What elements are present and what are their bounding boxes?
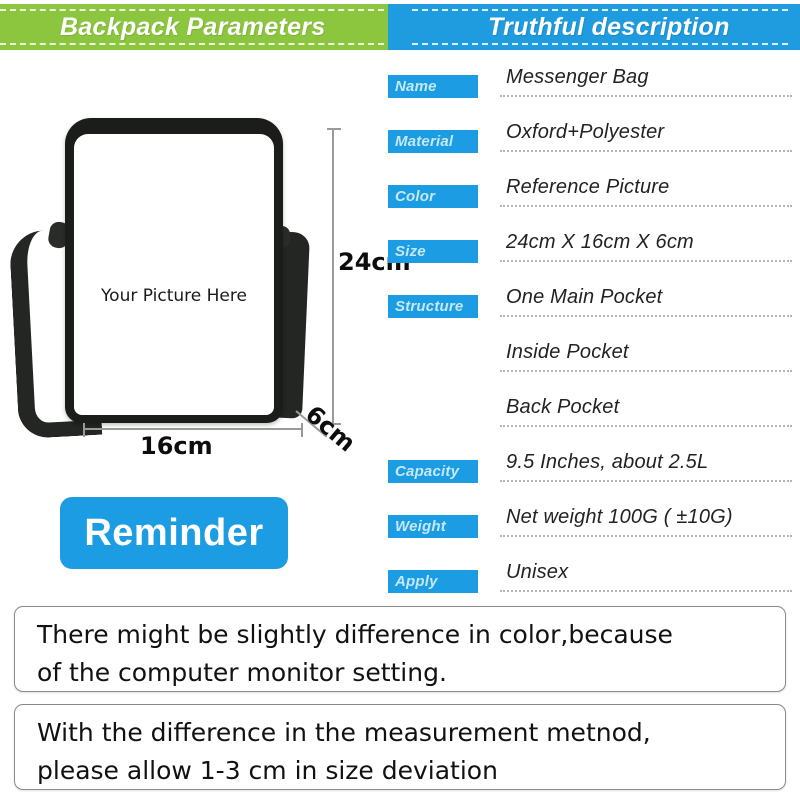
spec-row: NameMessenger Bag	[388, 62, 792, 117]
header-banner: Backpack Parameters Truthful description	[0, 4, 800, 50]
notice-2-line-2: please allow 1-3 cm in size deviation	[37, 752, 767, 790]
dimension-line-height	[332, 128, 334, 425]
dimension-label-width: 16cm	[140, 432, 213, 460]
spec-value-text: Messenger Bag	[506, 66, 649, 89]
header-title-right: Truthful description	[488, 4, 730, 50]
spec-value-text: Inside Pocket	[506, 341, 629, 364]
notice-color-disclaimer: There might be slightly difference in co…	[14, 606, 786, 692]
spec-value-text: Unisex	[506, 561, 568, 584]
spec-value-cell: Oxford+Polyester	[500, 117, 792, 172]
spec-value-cell: 24cm X 16cm X 6cm	[500, 227, 792, 282]
dimension-line-width	[83, 428, 303, 430]
spec-value-text: 9.5 Inches, about 2.5L	[506, 451, 708, 474]
spec-dotted-leader	[500, 260, 792, 262]
spec-value-text: One Main Pocket	[506, 286, 662, 309]
spec-row: ColorReference Picture	[388, 172, 792, 227]
header-title-left: Backpack Parameters	[60, 4, 326, 50]
spec-value-cell: Inside Pocket	[500, 337, 792, 392]
spec-label-chip: Material	[388, 130, 478, 153]
spec-label-chip: Apply	[388, 570, 478, 593]
spec-value-text: Back Pocket	[506, 396, 619, 419]
spec-value-cell: Messenger Bag	[500, 62, 792, 117]
bag-body: Your Picture Here	[65, 118, 283, 423]
spec-value-text: Net weight 100G ( ±10G)	[506, 506, 733, 529]
bag-print-panel: Your Picture Here	[74, 134, 274, 415]
spec-dotted-leader	[500, 205, 792, 207]
notice-2-line-1: With the difference in the measurement m…	[37, 714, 767, 752]
spec-dotted-leader	[500, 315, 792, 317]
spec-row: StructureOne Main Pocket	[388, 282, 792, 337]
spec-value-text: Oxford+Polyester	[506, 121, 664, 144]
spec-value-cell: Reference Picture	[500, 172, 792, 227]
spec-label-chip: Name	[388, 75, 478, 98]
dimension-label-depth: 6cm	[300, 400, 361, 457]
spec-dotted-leader	[500, 535, 792, 537]
spec-value-cell: 9.5 Inches, about 2.5L	[500, 447, 792, 502]
bag-panel-caption: Your Picture Here	[74, 286, 274, 306]
spec-value-cell: One Main Pocket	[500, 282, 792, 337]
spec-label-chip: Color	[388, 185, 478, 208]
specification-table: NameMessenger BagMaterialOxford+Polyeste…	[388, 62, 792, 612]
spec-row: Back Pocket	[388, 392, 792, 447]
spec-dotted-leader	[500, 590, 792, 592]
notice-size-disclaimer: With the difference in the measurement m…	[14, 704, 786, 790]
spec-row: ApplyUnisex	[388, 557, 792, 612]
spec-dotted-leader	[500, 425, 792, 427]
spec-row: Inside Pocket	[388, 337, 792, 392]
spec-label-chip: Weight	[388, 515, 478, 538]
spec-value-text: Reference Picture	[506, 176, 669, 199]
spec-value-text: 24cm X 16cm X 6cm	[506, 231, 694, 254]
spec-label-chip: Structure	[388, 295, 478, 318]
spec-dotted-leader	[500, 95, 792, 97]
spec-row: MaterialOxford+Polyester	[388, 117, 792, 172]
spec-row: Size24cm X 16cm X 6cm	[388, 227, 792, 282]
spec-label-chip: Capacity	[388, 460, 478, 483]
spec-dotted-leader	[500, 480, 792, 482]
spec-value-cell: Back Pocket	[500, 392, 792, 447]
spec-row: Capacity9.5 Inches, about 2.5L	[388, 447, 792, 502]
spec-label-chip: Size	[388, 240, 478, 263]
spec-dotted-leader	[500, 370, 792, 372]
spec-dotted-leader	[500, 150, 792, 152]
reminder-badge: Reminder	[60, 497, 288, 569]
spec-value-cell: Net weight 100G ( ±10G)	[500, 502, 792, 557]
spec-value-cell: Unisex	[500, 557, 792, 612]
notice-1-line-2: of the computer monitor setting.	[37, 654, 767, 692]
product-illustration: Your Picture Here 24cm 16cm 6cm	[0, 100, 380, 460]
notice-1-line-1: There might be slightly difference in co…	[37, 616, 767, 654]
spec-row: WeightNet weight 100G ( ±10G)	[388, 502, 792, 557]
